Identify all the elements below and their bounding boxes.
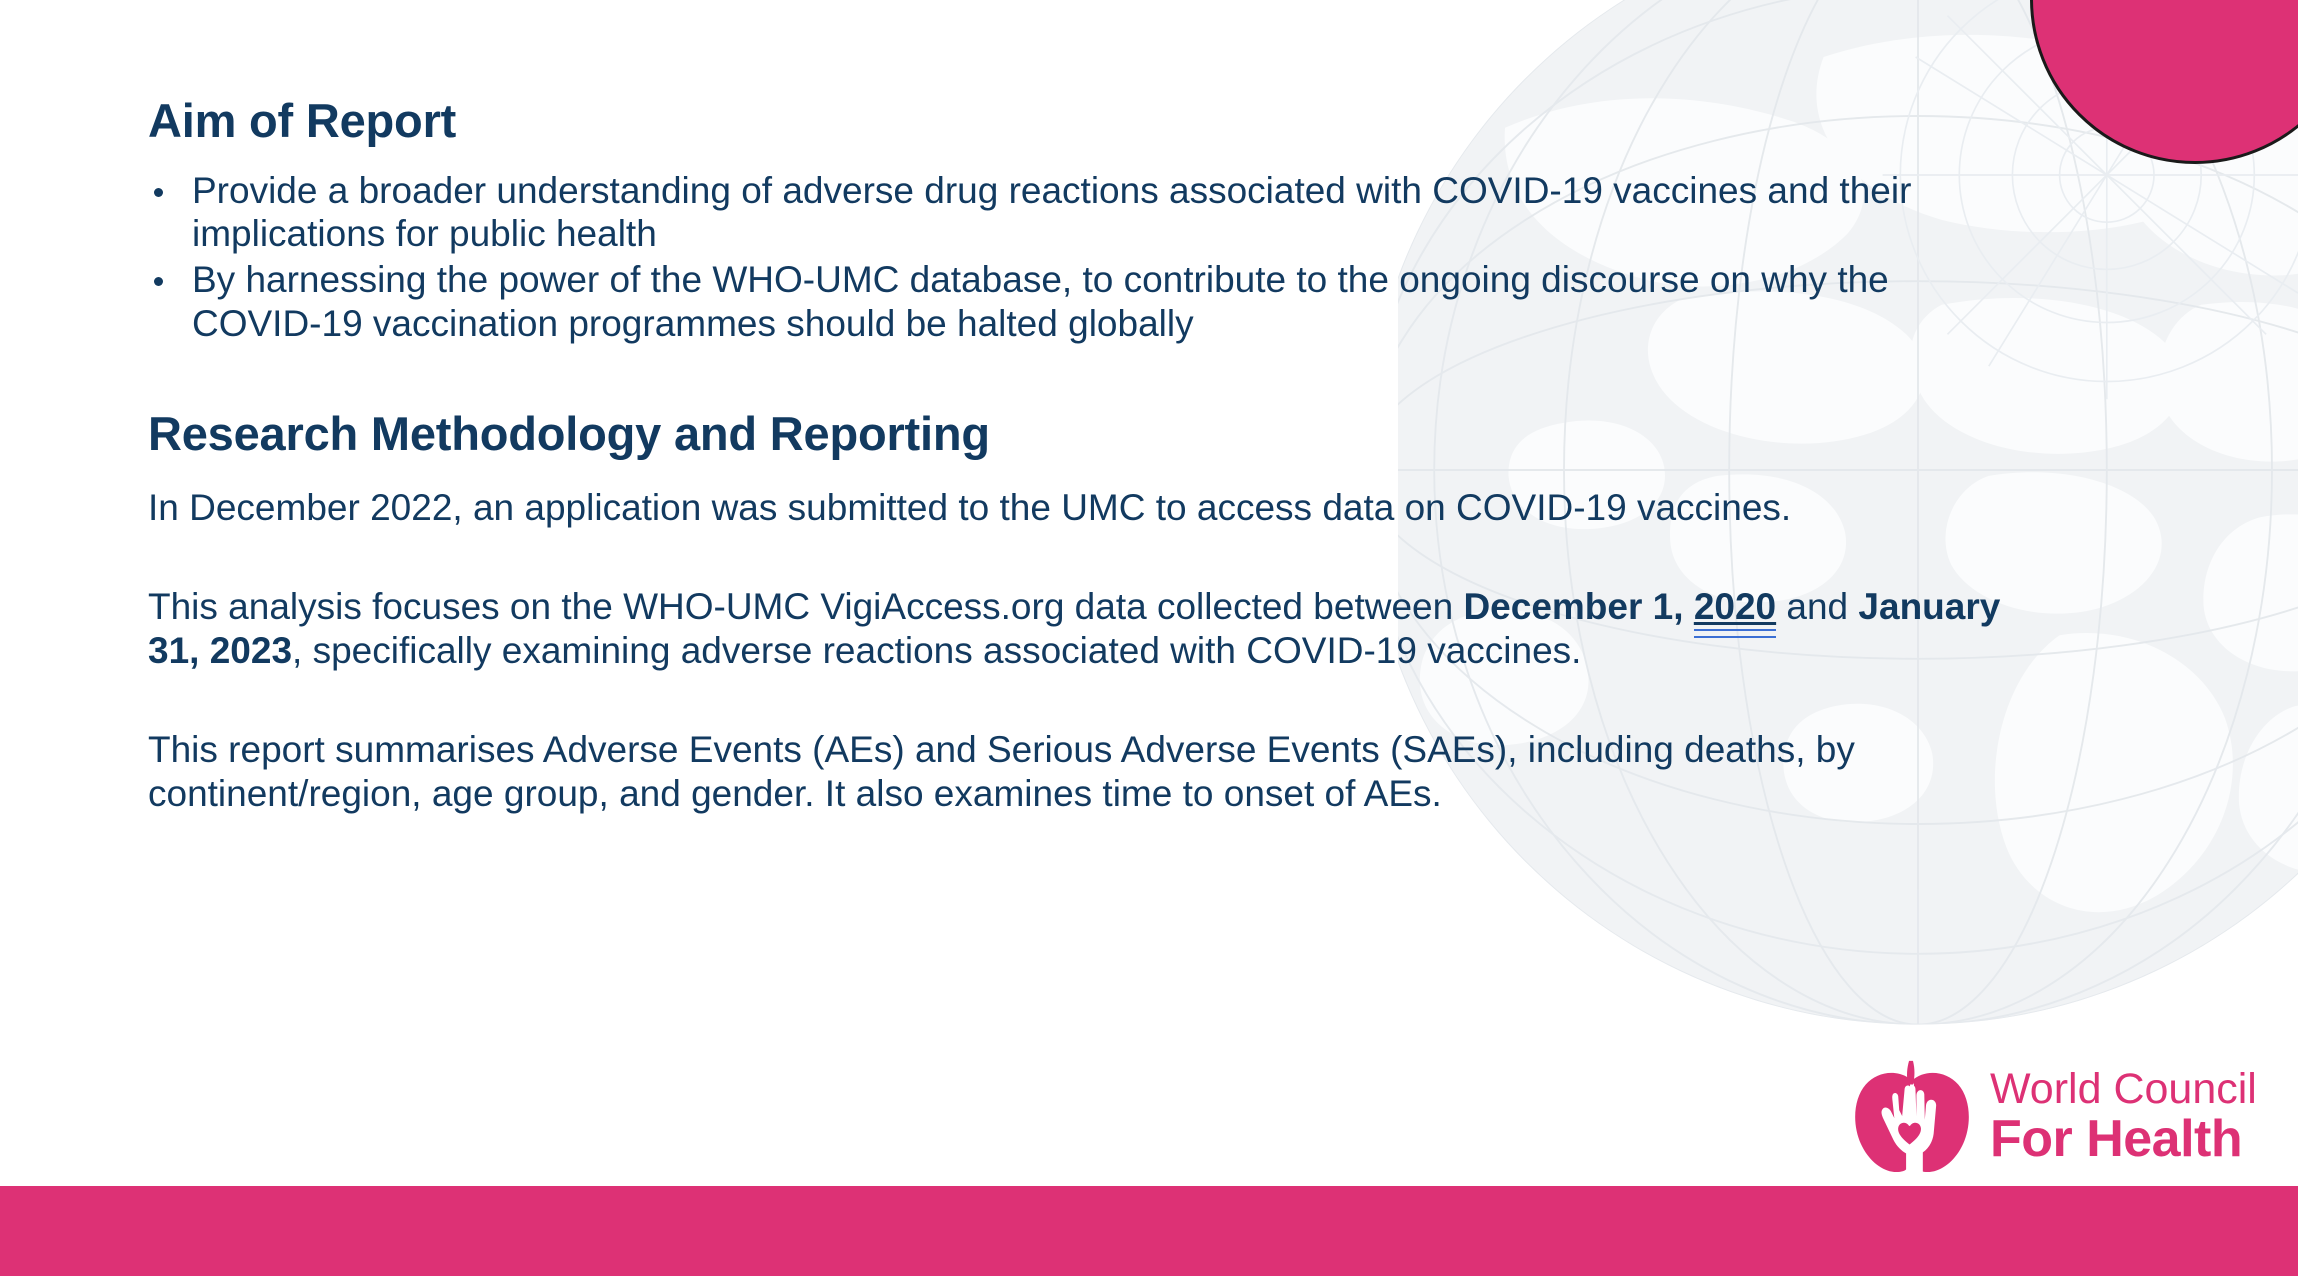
world-council-for-health-logo: World Council For Health xyxy=(1848,1055,2257,1177)
date-range-start-prefix: December 1, xyxy=(1463,586,1693,627)
paragraph-2-part-2: and xyxy=(1776,586,1858,627)
list-item: By harnessing the power of the WHO-UMC d… xyxy=(148,258,1932,345)
logo-line-world-council: World Council xyxy=(1990,1068,2257,1111)
logo-line-for-health: For Health xyxy=(1990,1113,2257,1165)
logo-wordmark: World Council For Health xyxy=(1990,1068,2257,1165)
list-item: Provide a broader understanding of adver… xyxy=(148,169,1932,256)
aim-of-report-heading: Aim of Report xyxy=(148,96,2148,147)
year-2020-link[interactable]: 2020 xyxy=(1694,586,1776,627)
methodology-paragraph-3: This report summarises Adverse Events (A… xyxy=(148,728,2048,816)
section-spacer xyxy=(148,347,2148,409)
methodology-paragraph-2: This analysis focuses on the WHO-UMC Vig… xyxy=(148,585,2048,673)
aim-bullet-list: Provide a broader understanding of adver… xyxy=(148,169,2148,346)
apple-hand-heart-icon xyxy=(1848,1055,1976,1177)
bottom-pink-bar xyxy=(0,1186,2298,1276)
slide-content: Aim of Report Provide a broader understa… xyxy=(148,96,2148,816)
slide: Aim of Report Provide a broader understa… xyxy=(0,0,2298,1276)
research-methodology-heading: Research Methodology and Reporting xyxy=(148,409,2148,460)
methodology-paragraph-1: In December 2022, an application was sub… xyxy=(148,486,2048,530)
paragraph-2-part-3: , specifically examining adverse reactio… xyxy=(292,630,1581,671)
paragraph-2-part-1: This analysis focuses on the WHO-UMC Vig… xyxy=(148,586,1463,627)
